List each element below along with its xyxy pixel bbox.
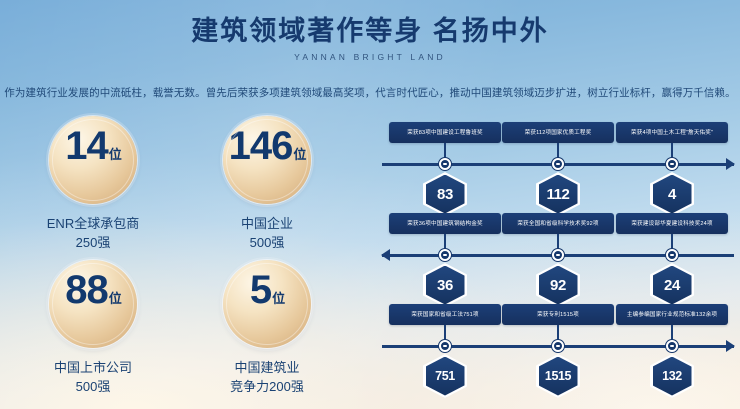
award-count: 132 [662, 370, 682, 383]
award-card-label: 荣获36项中国建筑钢结构金奖 [389, 213, 501, 234]
stat-value: 88 [65, 270, 108, 310]
award-card-label: 荣获112项国家优质工程奖 [502, 122, 614, 143]
stat-caption: 中国建筑业 竞争力200强 [230, 358, 304, 396]
award-count: 1515 [545, 370, 571, 383]
award-card-label: 主编参编国家行业规范标准132余项 [616, 304, 728, 325]
award-count: 4 [668, 187, 676, 202]
timeline-node[interactable]: 荣获36项中国建筑钢结构金奖 36 [389, 213, 501, 301]
award-count: 751 [435, 370, 455, 383]
stat-caption-line2: 500强 [241, 233, 293, 252]
stat-caption-line1: 中国上市公司 [54, 360, 132, 375]
slide-canvas: 建筑领域著作等身 名扬中外 YANNAN BRIGHT LAND 作为建筑行业发… [0, 0, 740, 409]
hex-badge: 751 [423, 354, 467, 398]
stat-value: 146 [229, 126, 293, 166]
hex-badge: 112 [536, 172, 580, 216]
stat-item: 14 位 ENR全球承包商 250强 [6, 116, 180, 260]
stat-item: 146 位 中国企业 500强 [180, 116, 354, 260]
award-card-label: 荣获全国和省级科学技术奖92项 [502, 213, 614, 234]
stat-unit: 位 [293, 144, 306, 163]
award-count: 83 [437, 187, 453, 202]
stat-caption-line1: ENR全球承包商 [47, 216, 139, 231]
award-count: 24 [664, 278, 680, 293]
stat-caption: ENR全球承包商 250强 [47, 214, 139, 252]
timeline-node[interactable]: 荣获国家和省级工法751项 751 [389, 304, 501, 392]
timeline-dot-icon [666, 249, 678, 261]
timeline-node[interactable]: 主编参编国家行业规范标准132余项 132 [616, 304, 728, 392]
hex-badge: 24 [650, 263, 694, 307]
timeline-dot-icon [439, 158, 451, 170]
timeline-row: 荣获国家和省级工法751项 751 荣获专利1515项 1515 [382, 304, 734, 392]
header: 建筑领域著作等身 名扬中外 YANNAN BRIGHT LAND [0, 14, 740, 62]
timeline-node[interactable]: 荣获专利1515项 1515 [502, 304, 614, 392]
hex-badge: 92 [536, 263, 580, 307]
award-card-label: 荣获国家和省级工法751项 [389, 304, 501, 325]
stat-coin-badge: 88 位 [49, 260, 137, 348]
stat-caption-line2: 250强 [47, 233, 139, 252]
award-card-label: 荣获建设部华夏建设科技奖24项 [616, 213, 728, 234]
stat-item: 88 位 中国上市公司 500强 [6, 260, 180, 404]
award-count: 92 [550, 278, 566, 293]
timeline-dot-icon [552, 158, 564, 170]
award-count: 112 [547, 187, 570, 202]
stat-caption-line2: 500强 [54, 377, 132, 396]
stat-item: 5 位 中国建筑业 竞争力200强 [180, 260, 354, 404]
award-card-label: 荣获专利1515项 [502, 304, 614, 325]
page-title: 建筑领域著作等身 名扬中外 [0, 14, 740, 48]
timeline-node[interactable]: 荣获建设部华夏建设科技奖24项 24 [616, 213, 728, 301]
stat-caption: 中国企业 500强 [241, 214, 293, 252]
awards-timeline: 荣获83项中国建设工程鲁班奖 83 荣获112项国家优质工程奖 112 [382, 122, 734, 400]
timeline-dot-icon [439, 340, 451, 352]
stat-unit: 位 [109, 144, 122, 163]
timeline-dot-icon [439, 249, 451, 261]
timeline-row: 荣获83项中国建设工程鲁班奖 83 荣获112项国家优质工程奖 112 [382, 122, 734, 210]
award-count: 36 [437, 278, 453, 293]
timeline-node[interactable]: 荣获83项中国建设工程鲁班奖 83 [389, 122, 501, 210]
award-card-label: 荣获83项中国建设工程鲁班奖 [389, 122, 501, 143]
stat-coin-badge: 14 位 [49, 116, 137, 204]
timeline-dot-icon [552, 249, 564, 261]
stat-unit: 位 [109, 288, 122, 307]
stat-caption-line2: 竞争力200强 [230, 377, 304, 396]
hex-badge: 36 [423, 263, 467, 307]
stat-caption-line1: 中国企业 [241, 216, 293, 231]
timeline-row: 荣获36项中国建筑钢结构金奖 36 荣获全国和省级科学技术奖92项 9 [382, 213, 734, 301]
stat-value: 5 [250, 270, 271, 310]
timeline-dot-icon [666, 340, 678, 352]
timeline-dot-icon [552, 340, 564, 352]
stat-unit: 位 [272, 288, 285, 307]
timeline-node[interactable]: 荣获全国和省级科学技术奖92项 92 [502, 213, 614, 301]
stats-grid: 14 位 ENR全球承包商 250强 146 位 中国企业 500强 88 位 [6, 116, 354, 404]
page-subtitle-en: YANNAN BRIGHT LAND [0, 52, 740, 62]
hex-badge: 1515 [536, 354, 580, 398]
stat-coin-badge: 146 位 [223, 116, 311, 204]
stat-value: 14 [65, 126, 108, 166]
award-card-label: 荣获4项中国土木工程“詹天佑奖” [616, 122, 728, 143]
timeline-node[interactable]: 荣获112项国家优质工程奖 112 [502, 122, 614, 210]
hex-badge: 83 [423, 172, 467, 216]
lead-paragraph: 作为建筑行业发展的中流砥柱，载誉无数。曾先后荣获多项建筑领域最高奖项，代言时代匠… [0, 86, 740, 101]
stat-caption-line1: 中国建筑业 [234, 360, 299, 375]
hex-badge: 132 [650, 354, 694, 398]
stat-caption: 中国上市公司 500强 [54, 358, 132, 396]
timeline-node[interactable]: 荣获4项中国土木工程“詹天佑奖” 4 [616, 122, 728, 210]
hex-badge: 4 [650, 172, 694, 216]
timeline-dot-icon [666, 158, 678, 170]
stat-coin-badge: 5 位 [223, 260, 311, 348]
